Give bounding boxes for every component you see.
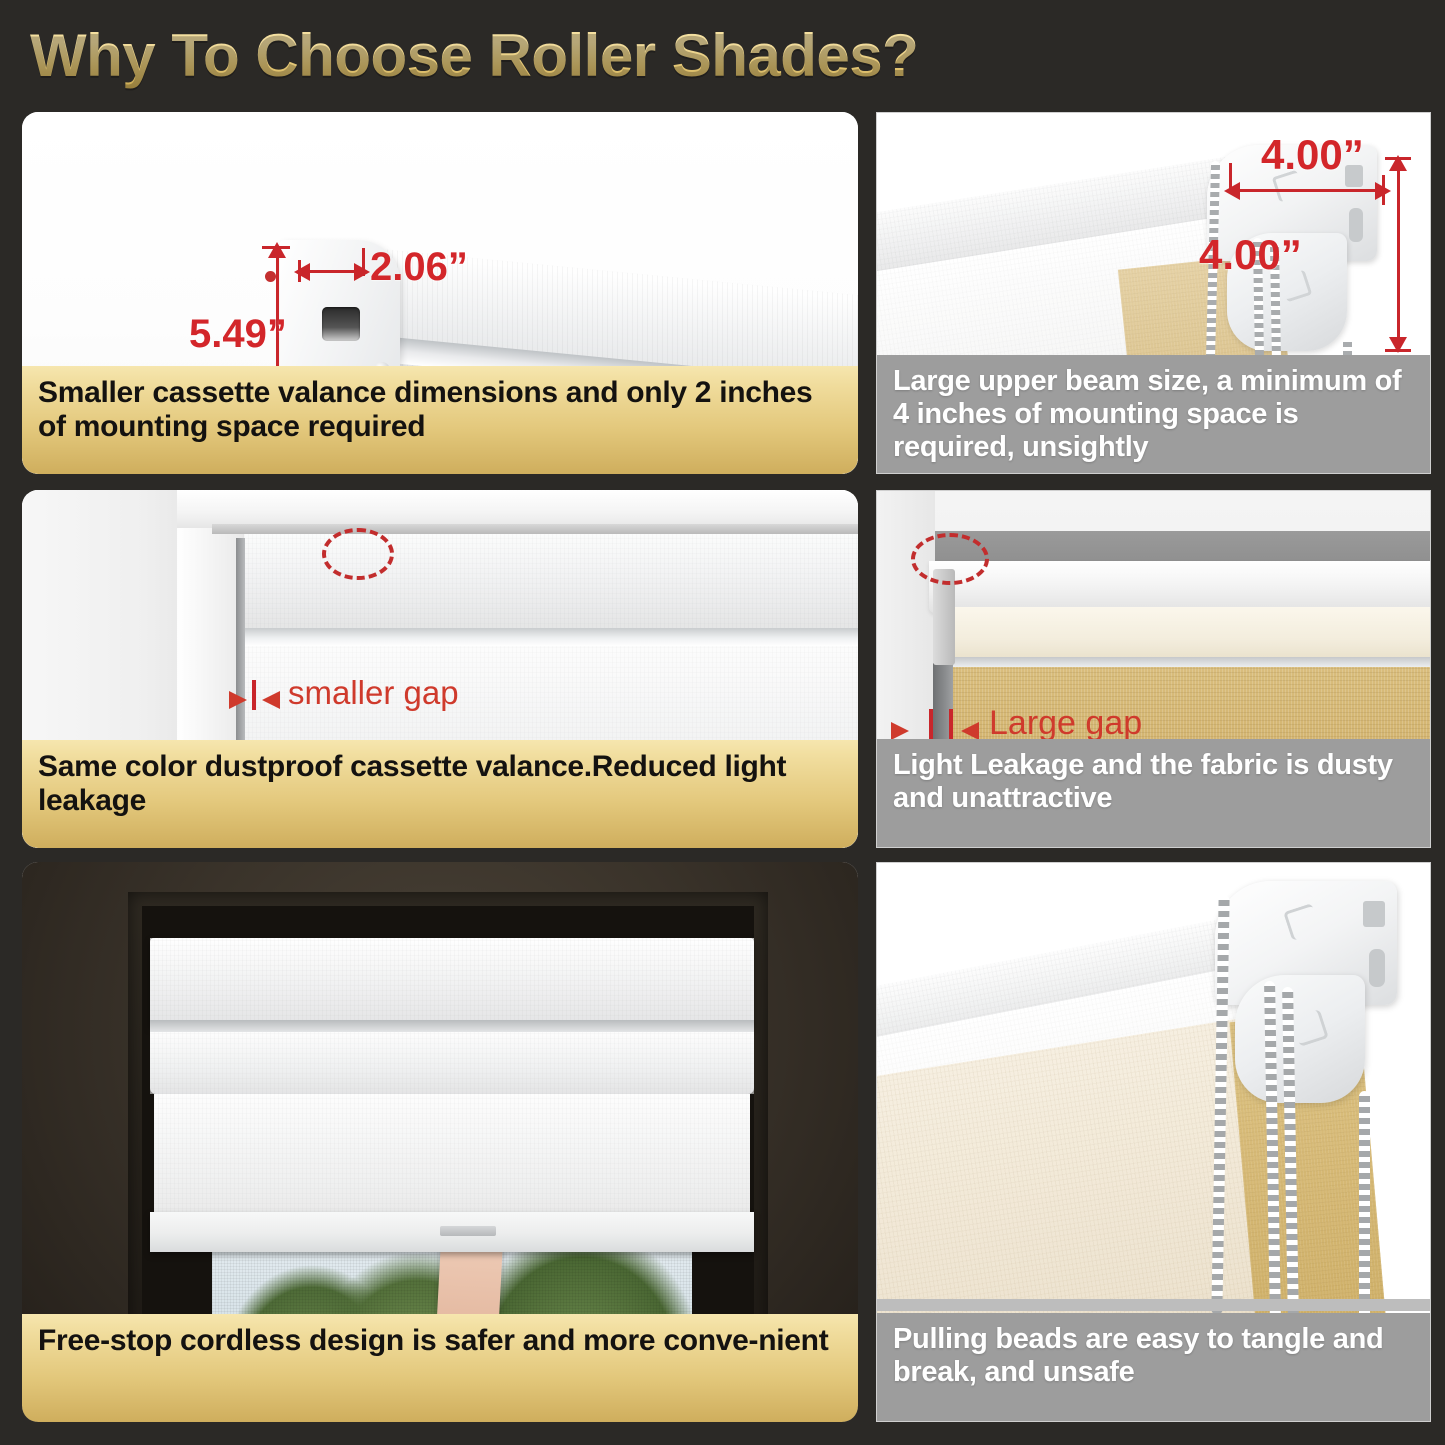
panel-bottom-left: Free-stop cordless design is safer and m…	[22, 862, 858, 1422]
width-dimension-arrow-right	[354, 263, 370, 281]
bracket-slot-b	[1369, 949, 1385, 987]
gap-callout-label: Large gap	[989, 704, 1142, 743]
dimension-origin-dot	[265, 271, 276, 282]
caption-mid-left: Same color dustproof cassette valance.Re…	[22, 740, 858, 848]
caption-bottom-right: Pulling beads are easy to tangle and bre…	[877, 1313, 1430, 1421]
top-right-height-line	[1397, 157, 1400, 352]
height-dimension-arrow-top	[268, 242, 286, 258]
height-dimension-label: 5.49”	[189, 312, 287, 357]
panel-top-left: 5.49” 2.06” Smaller cassette valance dim…	[22, 112, 858, 474]
panel-bottom-right: Pulling beads are easy to tangle and bre…	[876, 862, 1431, 1422]
top-right-height-label: 4.00”	[1199, 231, 1302, 279]
infographic-root: Why To Choose Roller Shades?	[0, 0, 1445, 1445]
panel-top-right: 4.00” 4.00” Large upper beam size, a min…	[876, 112, 1431, 474]
bracket-slot	[322, 307, 360, 341]
caption-mid-right: Light Leakage and the fabric is dusty an…	[877, 739, 1430, 847]
gap-marker-bar-a	[929, 709, 933, 741]
panel-mid-right: Large gap Light Leakage and the fabric i…	[876, 490, 1431, 848]
gap-arrow-right	[961, 722, 979, 740]
valance-lip-line	[937, 657, 1430, 667]
cassette-valance-lip	[244, 628, 858, 646]
cassette-valance	[150, 938, 754, 1026]
top-right-height-arrow-top	[1389, 155, 1407, 171]
top-right-height-arrow-bottom	[1389, 337, 1407, 353]
valance-lower-face	[150, 1032, 754, 1094]
caption-top-left: Smaller cassette valance dimensions and …	[22, 366, 858, 474]
bottom-rail-grip	[440, 1226, 496, 1236]
valance-face-cream	[937, 607, 1430, 661]
gap-arrow-right	[262, 691, 280, 709]
caption-bottom-left: Free-stop cordless design is safer and m…	[22, 1314, 858, 1422]
gap-marker-bar-b	[949, 709, 953, 741]
bracket-slot-a	[1363, 901, 1385, 927]
window-frame-header	[177, 490, 858, 528]
gap-callout-label: smaller gap	[288, 674, 459, 712]
highlight-circle-icon	[911, 533, 989, 585]
top-right-width-arrow-left	[1224, 182, 1240, 200]
gap-marker-bar	[252, 680, 256, 710]
top-right-width-label: 4.00”	[1261, 131, 1364, 179]
width-dimension-label: 2.06”	[370, 245, 468, 290]
gap-arrow-left	[229, 691, 247, 709]
bracket-slot-b	[1349, 208, 1363, 242]
top-right-width-line	[1232, 189, 1384, 192]
bead-chain-4	[1359, 1091, 1370, 1321]
panel-mid-left: smaller gap Same color dustproof cassett…	[22, 490, 858, 848]
highlight-circle-icon	[322, 528, 394, 580]
valance-shadow-line	[212, 524, 858, 534]
top-right-width-arrow-right	[1375, 182, 1391, 200]
caption-top-right: Large upper beam size, a minimum of 4 in…	[877, 355, 1430, 473]
page-title: Why To Choose Roller Shades?	[30, 22, 1030, 90]
headrail-white	[929, 561, 1430, 613]
gap-arrow-left	[891, 722, 909, 740]
floor-shadow	[877, 1299, 1430, 1311]
width-dimension-arrow-left	[294, 263, 310, 281]
